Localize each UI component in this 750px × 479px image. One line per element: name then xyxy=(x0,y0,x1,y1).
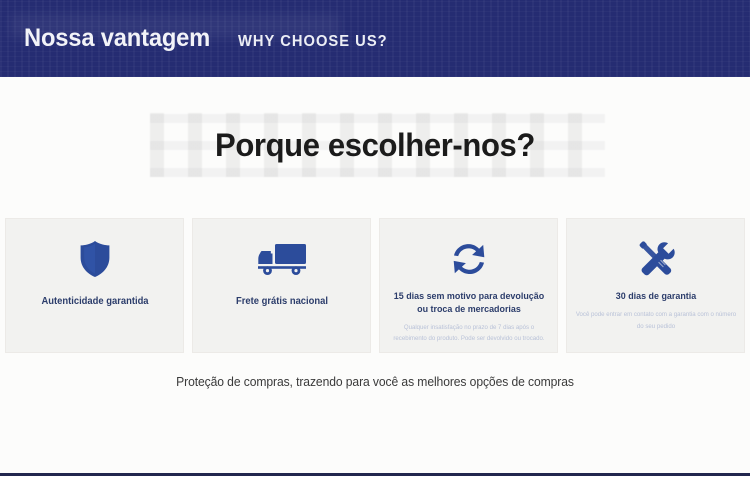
banner-title: Nossa vantagem xyxy=(24,26,210,51)
feature-card-title: 30 dias de garantia xyxy=(578,291,732,304)
feature-card-warranty[interactable]: 30 dias de garantia Você pode entrar em … xyxy=(566,218,745,353)
feature-card-title: Frete grátis nacional xyxy=(204,295,358,309)
page-header-banner: Nossa vantagem WHY CHOOSE US? xyxy=(0,0,750,77)
banner-subtitle: WHY CHOOSE US? xyxy=(238,34,388,50)
bottom-divider xyxy=(0,473,750,476)
feature-card-subtitle: Você pode entrar em contato com a garant… xyxy=(574,309,737,333)
feature-card-row: Autenticidade garantida Frete grátis nac… xyxy=(5,218,745,353)
purchase-protection-caption: Proteção de compras, trazendo para você … xyxy=(11,375,739,389)
feature-card-returns[interactable]: 15 dias sem motivo para devolução ou tro… xyxy=(379,218,558,353)
tools-icon xyxy=(633,237,679,281)
feature-card-free-shipping[interactable]: Frete grátis nacional xyxy=(192,218,371,353)
page-title: Porque escolher-nos? xyxy=(11,113,739,177)
feature-card-subtitle: Qualquer insatisfação no prazo de 7 dias… xyxy=(387,322,550,346)
shield-icon xyxy=(78,237,112,281)
feature-card-title: Autenticidade garantida xyxy=(17,295,171,309)
headline-block: Porque escolher-nos? xyxy=(0,113,750,177)
feature-card-title: 15 dias sem motivo para devolução ou tro… xyxy=(391,291,545,317)
content-area: Porque escolher-nos? Autenticidade garan… xyxy=(0,77,750,473)
banner-text-group: Nossa vantagem WHY CHOOSE US? xyxy=(24,26,401,51)
truck-icon xyxy=(256,237,308,281)
refresh-arrows-icon xyxy=(447,237,491,281)
feature-card-authenticity[interactable]: Autenticidade garantida xyxy=(5,218,184,353)
